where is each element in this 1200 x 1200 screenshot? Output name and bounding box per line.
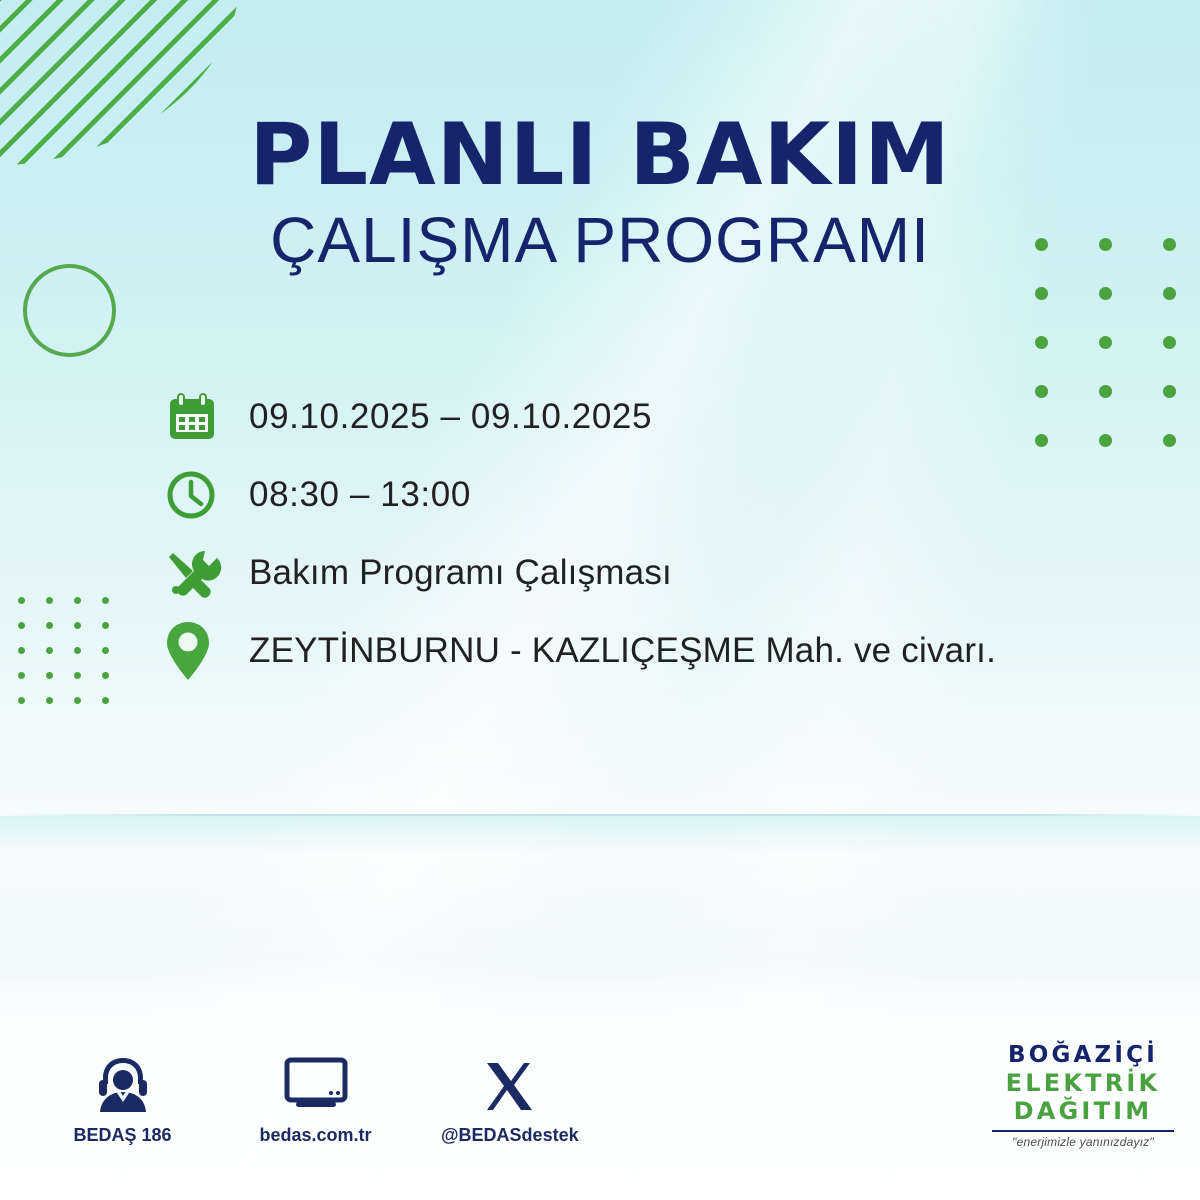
clock-icon (165, 469, 249, 521)
x-twitter-icon (441, 1048, 576, 1116)
info-row-date-text: 09.10.2025 – 09.10.2025 (249, 397, 652, 437)
info-row-time-text: 08:30 – 13:00 (249, 475, 471, 515)
logo-divider (992, 1130, 1174, 1132)
company-logo: BOĞAZİÇİ ELEKTRİK DAĞITIM "enerjimizle y… (988, 1042, 1178, 1149)
contact-list: BEDAŞ 186 bedas.com.tr (55, 1048, 576, 1146)
poster-title-block: PLANLI BAKIM ÇALIŞMA PROGRAMI (0, 112, 1200, 272)
info-row-work-type-text: Bakım Programı Çalışması (249, 553, 672, 593)
contact-social[interactable]: @BEDASdestek (441, 1048, 576, 1146)
footer: BEDAŞ 186 bedas.com.tr (0, 1030, 1200, 1200)
logo-tagline: "enerjimizle yanınızdayız" (988, 1135, 1178, 1149)
contact-social-label: @BEDASdestek (441, 1125, 576, 1146)
info-row-time: 08:30 – 13:00 (165, 456, 1125, 534)
circle-outline-decoration (23, 264, 116, 357)
location-pin-icon (165, 620, 249, 682)
background-divider-glow (0, 816, 1200, 854)
headset-support-icon (55, 1048, 190, 1116)
calendar-icon (165, 390, 249, 444)
page-title: PLANLI BAKIM (0, 112, 1200, 198)
info-row-date: 09.10.2025 – 09.10.2025 (165, 378, 1125, 456)
dot-grid-left-decoration (18, 597, 130, 722)
monitor-icon (248, 1048, 383, 1116)
contact-website[interactable]: bedas.com.tr (248, 1048, 383, 1146)
info-row-location: ZEYTİNBURNU - KAZLIÇEŞME Mah. ve civarı. (165, 612, 1125, 690)
info-row-location-text: ZEYTİNBURNU - KAZLIÇEŞME Mah. ve civarı. (249, 631, 996, 671)
info-list: 09.10.2025 – 09.10.2025 08:30 – 13:00 (165, 378, 1125, 690)
logo-line-elektrik: ELEKTRİK (988, 1069, 1178, 1097)
contact-phone[interactable]: BEDAŞ 186 (55, 1048, 190, 1146)
logo-line-bogazici: BOĞAZİÇİ (988, 1042, 1178, 1069)
page-subtitle: ÇALIŞMA PROGRAMI (0, 208, 1200, 272)
poster-canvas: PLANLI BAKIM ÇALIŞMA PROGRAMI 0 (0, 0, 1200, 1200)
tools-icon (165, 547, 249, 599)
logo-line-dagitim: DAĞITIM (988, 1097, 1178, 1125)
info-row-work-type: Bakım Programı Çalışması (165, 534, 1125, 612)
contact-phone-label: BEDAŞ 186 (55, 1125, 190, 1146)
contact-website-label: bedas.com.tr (248, 1125, 383, 1146)
